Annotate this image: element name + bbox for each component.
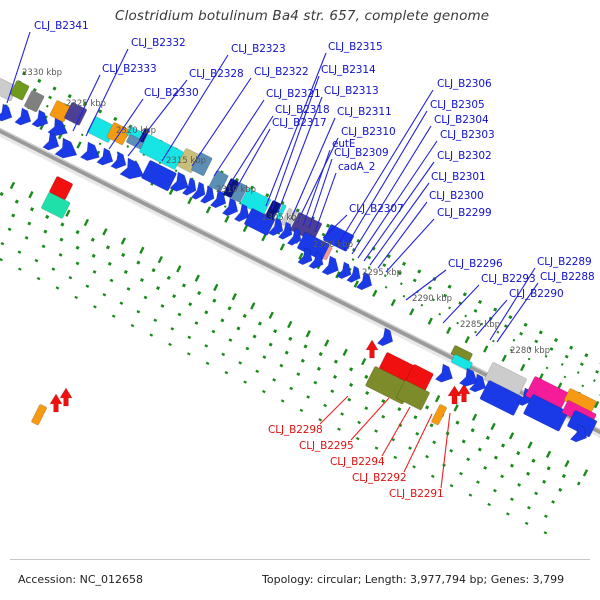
scale-tick-label: 2280 kbp — [510, 346, 550, 356]
gene-feature[interactable] — [31, 404, 47, 425]
gene-label[interactable]: CLJ_B2301 — [431, 171, 486, 183]
leader-line — [192, 78, 251, 166]
scale-tick-label: 2330 kbp — [22, 68, 62, 78]
gene-feature[interactable] — [448, 386, 461, 404]
gene-label[interactable]: CLJ_B2304 — [434, 114, 489, 126]
page-title: Clostridium botulinum Ba4 str. 657, comp… — [115, 8, 489, 24]
leader-line — [320, 396, 348, 424]
scale-tick-label: 2295 kbp — [362, 268, 402, 278]
genome-stats-label: Topology: circular; Length: 3,977,794 bp… — [262, 573, 564, 586]
leader-line — [236, 129, 270, 189]
gene-label[interactable]: CLJ_B2293 — [481, 273, 536, 285]
gene-feature[interactable] — [435, 364, 456, 386]
leader-line — [382, 407, 410, 456]
genome-viewer: Clostridium botulinum Ba4 str. 657, comp… — [0, 0, 600, 600]
scale-tick-label: 2325 kbp — [66, 99, 106, 109]
gene-feature[interactable] — [431, 404, 447, 425]
gene-label[interactable]: CLJ_B2292 — [352, 472, 407, 484]
gene-label[interactable]: CLJ_B2313 — [324, 85, 379, 97]
gene-label[interactable]: CLJ_B2288 — [540, 271, 595, 283]
gene-label[interactable]: CLJ_B2314 — [321, 64, 376, 76]
gene-label[interactable]: CLJ_B2323 — [231, 43, 286, 55]
sequence-tick-dots — [0, 73, 600, 537]
scale-tick-label: 2305 kbp — [262, 213, 302, 223]
gene-label[interactable]: CLJ_B2322 — [254, 66, 309, 78]
scale-tick-label: 2320 kbp — [116, 126, 156, 136]
scale-tick-label: 2300 kbp — [313, 240, 353, 250]
leader-line — [230, 116, 273, 184]
gene-label[interactable]: CLJ_B2305 — [430, 99, 485, 111]
leader-line — [476, 300, 507, 336]
gene-feature[interactable] — [24, 90, 45, 112]
gene-label[interactable]: CLJ_B2302 — [437, 150, 492, 162]
gene-feature[interactable] — [366, 340, 378, 358]
gene-label[interactable]: CLJ_B2311 — [337, 106, 392, 118]
gene-label[interactable]: CLJ_B2290 — [509, 288, 564, 300]
gene-label[interactable]: CLJ_B2303 — [440, 129, 495, 141]
leader-line — [404, 414, 432, 472]
leader-line — [370, 183, 429, 265]
scale-tick-label: 2285 kbp — [460, 320, 500, 330]
gene-feature[interactable] — [50, 394, 62, 412]
gene-feature[interactable] — [458, 384, 470, 402]
gene-label[interactable]: CLJ_B2315 — [328, 41, 383, 53]
gene-label[interactable]: CLJ_B2333 — [102, 63, 157, 75]
gene-label[interactable]: CLJ_B2317 — [272, 117, 327, 129]
footer-divider — [10, 559, 590, 560]
gene-label[interactable]: CLJ_B2291 — [389, 488, 444, 500]
leader-line — [297, 138, 338, 223]
gene-feature[interactable] — [15, 108, 35, 129]
scale-tick-label: 2310 kbp — [216, 185, 256, 195]
gene-label[interactable]: CLJ_B2330 — [144, 87, 199, 99]
gene-label[interactable]: CLJ_B2295 — [299, 440, 354, 452]
gene-label[interactable]: CLJ_B2306 — [437, 78, 492, 90]
gene-label[interactable]: CLJ_B2300 — [429, 190, 484, 202]
accession-label: Accession: NC_012658 — [18, 573, 143, 586]
leader-line — [351, 398, 389, 440]
gene-feature[interactable] — [0, 104, 16, 125]
leader-line — [443, 285, 479, 323]
gene-label[interactable]: CLJ_B2332 — [131, 37, 186, 49]
gene-label[interactable]: CLJ_B2321 — [266, 88, 321, 100]
scale-tick-label: 2315 kbp — [166, 156, 206, 166]
leader-line — [441, 413, 450, 488]
gene-label[interactable]: CLJ_B2294 — [330, 456, 385, 468]
gene-label[interactable]: CLJ_B2318 — [275, 104, 330, 116]
gene-label[interactable]: CLJ_B2296 — [448, 258, 503, 270]
gene-label[interactable]: CLJ_B2299 — [437, 207, 492, 219]
leader-line — [214, 100, 264, 176]
gene-label[interactable]: CLJ_B2298 — [268, 424, 323, 436]
gene-label[interactable]: CLJ_B2307 — [349, 203, 404, 215]
scale-tick-label: 2290 kbp — [412, 294, 452, 304]
leader-line — [386, 219, 434, 272]
gene-label[interactable]: CLJ_B2341 — [34, 20, 89, 32]
gene-label[interactable]: CLJ_B2328 — [189, 68, 244, 80]
gene-label[interactable]: CLJ_B2289 — [537, 256, 592, 268]
gene-label[interactable]: CLJ_B2309 — [334, 147, 389, 159]
gene-label[interactable]: cadA_2 — [338, 161, 375, 173]
gene-label[interactable]: CLJ_B2310 — [341, 126, 396, 138]
